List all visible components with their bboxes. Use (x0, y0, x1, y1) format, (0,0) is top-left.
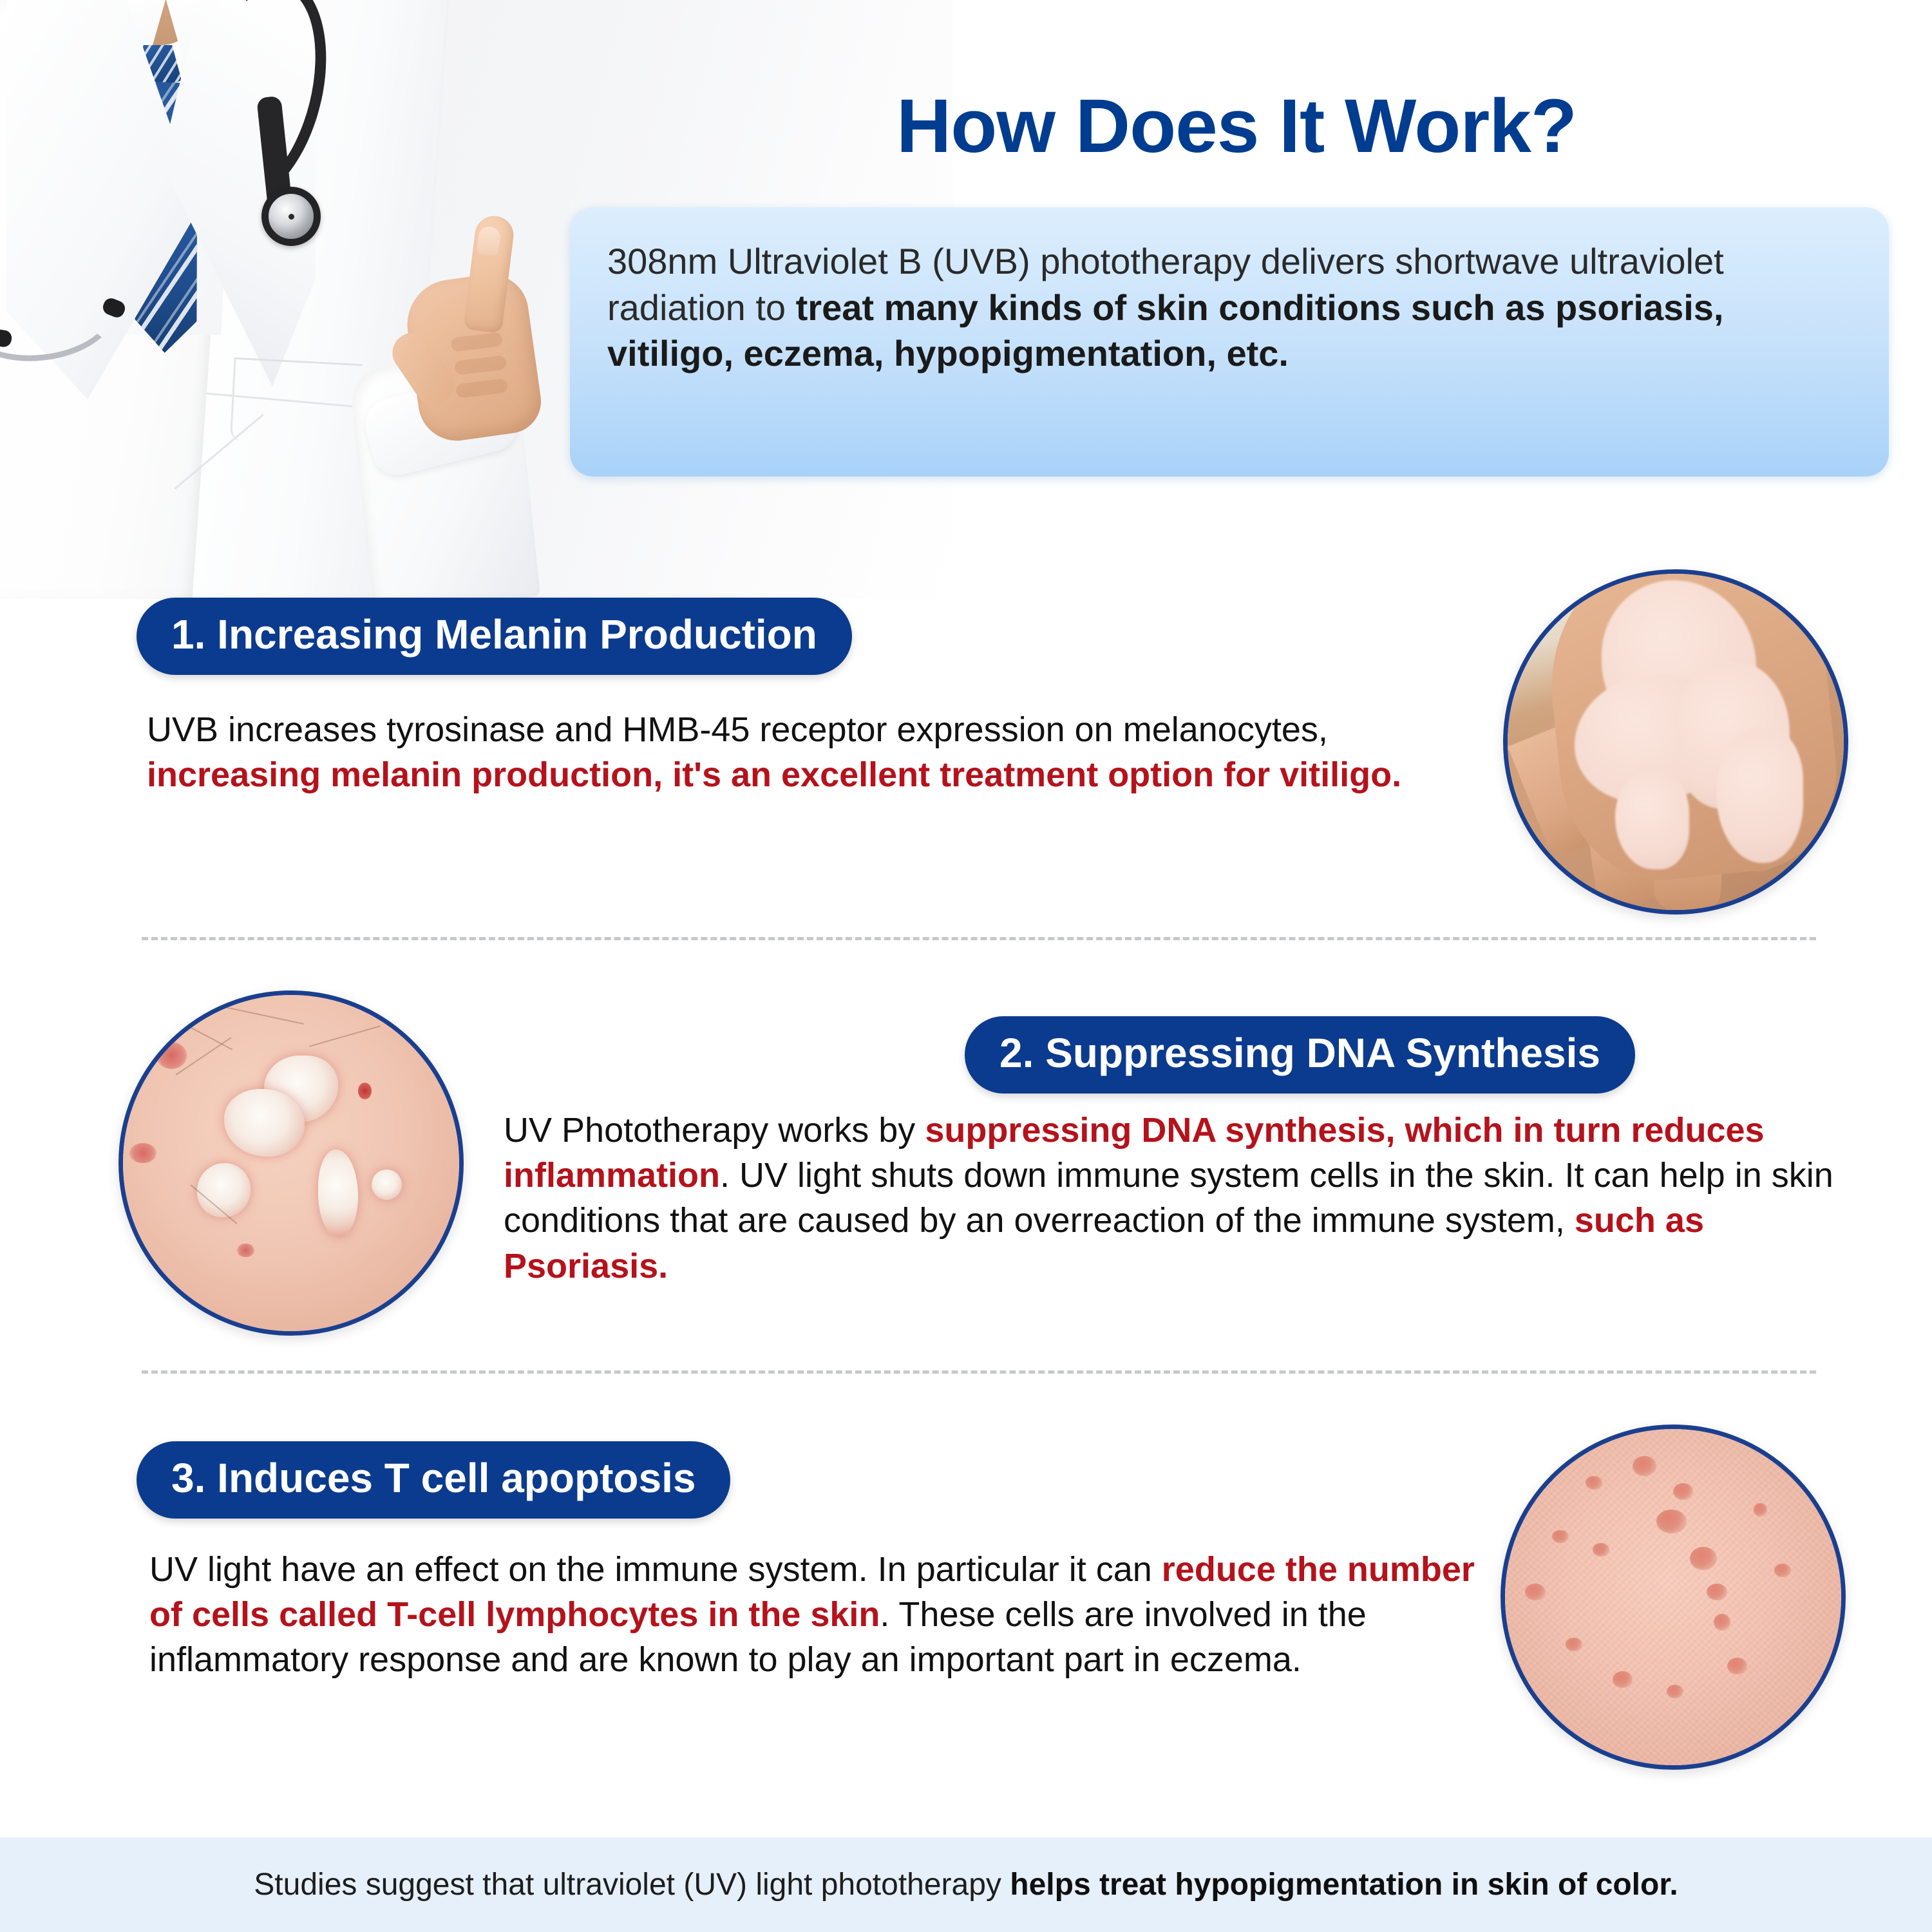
section-2-body: UV Phototherapy works by suppressing DNA… (504, 1108, 1850, 1289)
inflamed-spot (129, 1143, 156, 1163)
section-badge-3[interactable]: 3. Induces T cell apoptosis (137, 1441, 730, 1519)
doctor-photo (0, 0, 580, 599)
infographic-page: How Does It Work? 308nm Ultraviolet B (U… (0, 0, 1932, 1932)
depigmented-patch (1615, 769, 1689, 870)
section-2-plain-text: UV Phototherapy works by (504, 1111, 925, 1150)
footer-plain-text: Studies suggest that ultraviolet (UV) li… (254, 1868, 1010, 1902)
section-3-plain-text: UV light have an effect on the immune sy… (149, 1550, 1162, 1589)
stethoscope-chestpiece (261, 187, 321, 246)
eczema-bump (1656, 1510, 1687, 1533)
eczema-bump (1714, 1614, 1730, 1631)
lab-coat-pocket (230, 357, 363, 448)
intro-callout-box: 308nm Ultraviolet B (UVB) phototherapy d… (570, 207, 1889, 477)
eczema-bump (1633, 1456, 1656, 1476)
fingernail (476, 225, 501, 256)
eczema-bump (1613, 1671, 1633, 1688)
psoriasis-skin-photo (118, 990, 464, 1336)
eczema-bump (1707, 1584, 1727, 1600)
section-badge-2[interactable]: 2. Suppressing DNA Synthesis (965, 1016, 1635, 1094)
section-1-plain-text: UVB increases tyrosinase and HMB-45 rece… (147, 710, 1328, 749)
eczema-skin-photo (1501, 1425, 1846, 1770)
eczema-bump (1566, 1638, 1582, 1651)
intro-text: 308nm Ultraviolet B (UVB) phototherapy d… (607, 238, 1850, 377)
eczema-bump (1727, 1658, 1747, 1674)
section-divider-1 (142, 937, 1816, 940)
section-1-highlight-text: increasing melanin production, it's an e… (147, 755, 1401, 794)
inflamed-spot (156, 1042, 187, 1069)
eczema-bump (1525, 1584, 1545, 1600)
skin-texture (1505, 1429, 1841, 1765)
eczema-bump (1673, 1483, 1693, 1500)
page-title: How Does It Work? (592, 82, 1880, 170)
inflamed-spot (237, 1244, 254, 1257)
eczema-bump (1667, 1685, 1683, 1698)
vitiligo-hand-photo (1503, 569, 1848, 914)
eczema-bump (1690, 1547, 1717, 1571)
section-1-body: UVB increases tyrosinase and HMB-45 rece… (147, 707, 1493, 797)
eczema-bump (1774, 1564, 1791, 1577)
section-3-body: UV light have an effect on the immune sy… (149, 1547, 1476, 1683)
footer-text: Studies suggest that ultraviolet (UV) li… (254, 1867, 1678, 1902)
footer-bar: Studies suggest that ultraviolet (UV) li… (0, 1837, 1932, 1932)
depigmented-patch (1716, 728, 1804, 863)
eczema-bump (1754, 1503, 1767, 1517)
footer-bold-text: helps treat hypopigmentation in skin of … (1010, 1868, 1678, 1902)
psoriasis-plaque (197, 1163, 251, 1217)
inflamed-spot (358, 1083, 372, 1099)
section-divider-2 (142, 1370, 1816, 1374)
section-badge-1[interactable]: 1. Increasing Melanin Production (137, 598, 852, 675)
